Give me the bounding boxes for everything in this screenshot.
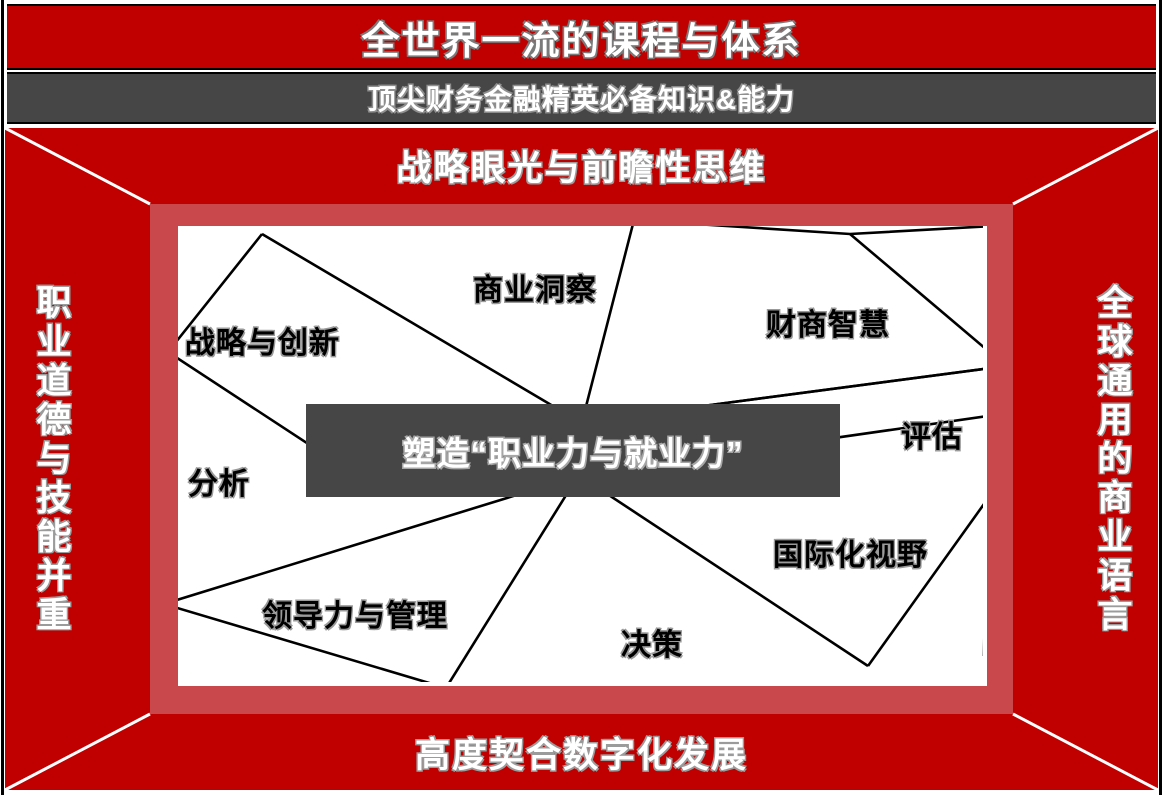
- bevel-left-band: [150, 204, 178, 714]
- node-global-vision: 国际化视野: [773, 530, 928, 574]
- bevel-bottom-band: [150, 686, 1013, 714]
- sector-decision-left: [446, 476, 578, 682]
- center-callout: 塑造“职业力与就业力”: [306, 404, 840, 497]
- node-evaluation: 评估: [901, 412, 963, 456]
- node-analysis: 分析: [188, 459, 250, 503]
- node-decision: 决策: [621, 620, 683, 664]
- subtitle-banner: 顶尖财务金融精英必备知识&能力: [7, 72, 1156, 124]
- left-edge-rule: [1, 0, 4, 795]
- center-callout-label: 塑造“职业力与就业力”: [403, 427, 744, 475]
- title-banner: 全世界一流的课程与体系: [7, 4, 1156, 70]
- frame-label-top: 战略眼光与前瞻性思维: [5, 140, 1158, 191]
- node-financial-wisdom: 财商智慧: [766, 300, 890, 344]
- frame-label-right: 全球通用的商业语言: [1084, 128, 1140, 790]
- node-leadership: 领导力与管理: [262, 591, 448, 635]
- right-edge-rule: [1159, 0, 1162, 795]
- node-strategy-innovation: 战略与创新: [185, 318, 340, 362]
- bevel-right-band: [987, 204, 1013, 714]
- page-subtitle: 顶尖财务金融精英必备知识&能力: [368, 78, 795, 118]
- frame-label-left: 职业道德与技能并重: [23, 128, 79, 790]
- frame-label-bottom: 高度契合数字化发展: [5, 727, 1158, 778]
- bevel-top-band: [150, 204, 1013, 226]
- sector-insight-right: [582, 226, 634, 422]
- sector-wisdom-top: [634, 226, 983, 234]
- node-business-insight: 商业洞察: [473, 265, 597, 309]
- sector-vision: [868, 504, 983, 666]
- page-title: 全世界一流的课程与体系: [361, 10, 801, 65]
- slide-canvas: 全世界一流的课程与体系 顶尖财务金融精英必备知识&能力: [0, 0, 1163, 795]
- sector-leadership: [178, 476, 578, 682]
